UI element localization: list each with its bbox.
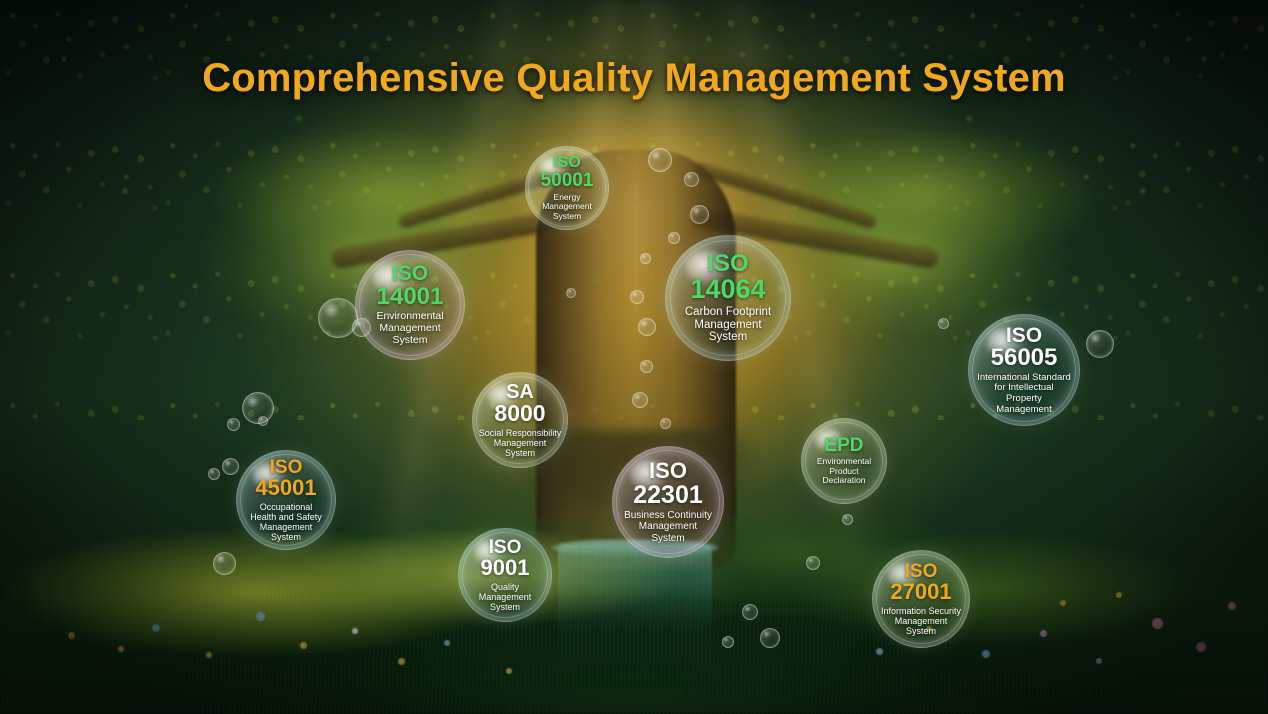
bubble-description-iso-45001: OccupationalHealth and SafetyManagementS… (246, 502, 326, 542)
flower (1196, 642, 1206, 652)
description-line: System (250, 532, 322, 542)
decorative-bubble (213, 552, 236, 575)
description-line: Health and Safety (250, 512, 322, 522)
description-line: Business Continuity (624, 510, 712, 521)
flower (1152, 618, 1163, 629)
description-line: Occupational (250, 502, 322, 512)
decorative-bubble (684, 172, 699, 187)
description-line: System (376, 335, 443, 347)
bubble-number-iso-56005: 56005 (991, 346, 1058, 370)
description-line: Management (479, 438, 562, 448)
decorative-bubble (318, 298, 358, 338)
decorative-bubble (648, 148, 672, 172)
bubble-number-iso-27001: 27001 (890, 581, 951, 603)
standard-bubble-iso-22301[interactable]: ISO22301Business ContinuityManagementSys… (612, 446, 724, 558)
bubble-description-iso-9001: QualityManagementSystem (475, 582, 536, 612)
bubble-number-iso-14064: 14064 (690, 276, 765, 304)
standard-bubble-epd[interactable]: EPDEnvironmentalProductDeclaration (801, 418, 887, 504)
flower (68, 632, 75, 639)
decorative-bubble (842, 514, 853, 525)
decorative-bubble (760, 628, 780, 648)
flower (1228, 602, 1236, 610)
description-line: System (542, 212, 592, 222)
decorative-bubble (222, 458, 239, 475)
standard-bubble-iso-50001[interactable]: ISO50001EnergyManagementSystem (525, 146, 609, 230)
flower (982, 650, 990, 658)
bubble-description-iso-27001: Information SecurityManagementSystem (877, 606, 965, 636)
bubble-number-iso-9001: 9001 (481, 557, 530, 579)
description-line: Property (977, 394, 1070, 405)
flower (300, 642, 307, 649)
bubble-description-iso-14001: EnvironmentalManagementSystem (372, 311, 447, 346)
decorative-bubble (640, 360, 653, 373)
decorative-bubble (632, 392, 648, 408)
standard-bubble-iso-14001[interactable]: ISO14001EnvironmentalManagementSystem (355, 250, 465, 360)
bubble-description-epd: EnvironmentalProductDeclaration (813, 457, 875, 486)
bubble-code-iso-50001: ISO (553, 155, 581, 171)
flower (152, 624, 160, 632)
description-line: Management (479, 592, 532, 602)
description-line: System (685, 331, 771, 344)
decorative-bubble (630, 290, 644, 304)
standard-bubble-iso-14064[interactable]: ISO14064Carbon FootprintManagementSystem (665, 235, 791, 361)
flower (1060, 600, 1066, 606)
bubble-number-sa-8000: 8000 (494, 402, 545, 425)
decorative-bubble (690, 205, 709, 224)
decorative-bubble (208, 468, 220, 480)
standard-bubble-iso-27001[interactable]: ISO27001Information SecurityManagementSy… (872, 550, 970, 648)
description-line: System (881, 626, 961, 636)
flower (206, 652, 212, 658)
description-line: Declaration (817, 476, 871, 486)
description-line: Management (881, 616, 961, 626)
flower (352, 628, 358, 634)
decorative-bubble (258, 416, 268, 426)
flower (444, 640, 450, 646)
bubble-number-iso-45001: 45001 (255, 477, 316, 499)
decorative-bubble (806, 556, 820, 570)
description-line: Quality (479, 582, 532, 592)
bubble-code-iso-14001: ISO (392, 263, 428, 284)
bubble-number-iso-14001: 14001 (377, 285, 444, 309)
flower (118, 646, 124, 652)
description-line: System (624, 533, 712, 544)
decorative-bubble (722, 636, 734, 648)
decorative-bubble (1086, 330, 1114, 358)
decorative-bubble (742, 604, 758, 620)
bubble-code-iso-14064: ISO (707, 252, 748, 276)
flower (506, 668, 512, 674)
bubble-description-iso-22301: Business ContinuityManagementSystem (620, 510, 716, 544)
standard-bubble-iso-45001[interactable]: ISO45001OccupationalHealth and SafetyMan… (236, 450, 336, 550)
bubble-description-iso-50001: EnergyManagementSystem (538, 193, 596, 222)
flower (1096, 658, 1102, 664)
bubble-number-iso-50001: 50001 (541, 171, 594, 190)
flower (398, 658, 405, 665)
bubble-code-epd: EPD (824, 436, 863, 455)
decorative-bubble (227, 418, 240, 431)
description-line: Carbon Footprint (685, 306, 771, 319)
standard-bubble-iso-9001[interactable]: ISO9001QualityManagementSystem (458, 528, 552, 622)
grass-texture (0, 560, 1268, 714)
flower (256, 612, 265, 621)
slide-canvas: Comprehensive Quality Management System … (0, 0, 1268, 714)
flower (1116, 592, 1122, 598)
decorative-bubble (566, 288, 576, 298)
decorative-bubble (638, 318, 656, 336)
standard-bubble-iso-56005[interactable]: ISO56005International Standardfor Intell… (968, 314, 1080, 426)
bubble-code-sa-8000: SA (506, 382, 534, 402)
flower (876, 648, 883, 655)
bubble-number-iso-22301: 22301 (633, 483, 703, 509)
flower (1040, 630, 1047, 637)
description-line: Management (624, 521, 712, 532)
standard-bubble-sa-8000[interactable]: SA8000Social ResponsibilityManagementSys… (472, 372, 568, 468)
description-line: Information Security (881, 606, 961, 616)
bubble-code-iso-56005: ISO (1006, 325, 1042, 346)
description-line: Management (685, 319, 771, 332)
decorative-bubble (660, 418, 671, 429)
decorative-bubble (938, 318, 949, 329)
bubble-description-iso-14064: Carbon FootprintManagementSystem (681, 306, 775, 345)
description-line: System (479, 602, 532, 612)
description-line: Social Responsibility (479, 428, 562, 438)
bubble-code-iso-22301: ISO (649, 460, 687, 482)
description-line: Management (250, 522, 322, 532)
bubble-description-iso-56005: International Standardfor IntellectualPr… (973, 373, 1074, 416)
bubble-description-sa-8000: Social ResponsibilityManagementSystem (475, 428, 566, 458)
decorative-bubble (668, 232, 680, 244)
page-title: Comprehensive Quality Management System (0, 56, 1268, 101)
description-line: System (479, 448, 562, 458)
description-line: Management (977, 405, 1070, 416)
decorative-bubble (640, 253, 651, 264)
